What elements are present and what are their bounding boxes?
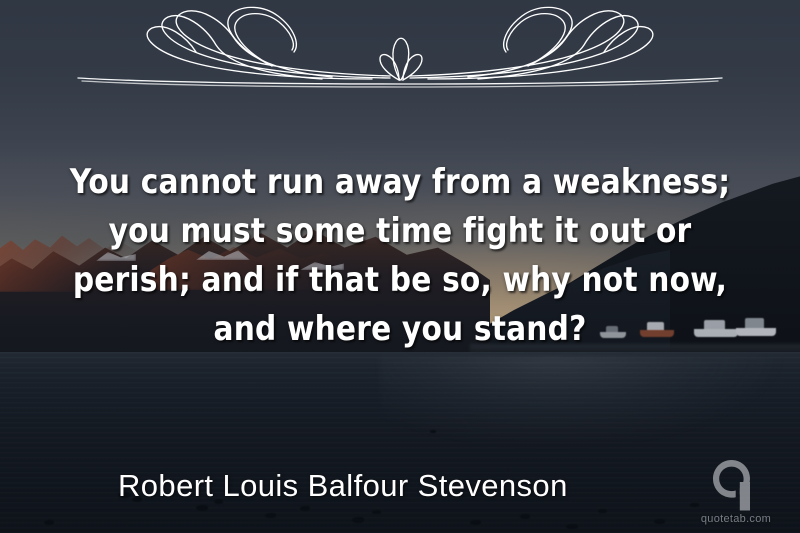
flourish-divider-icon — [72, 2, 728, 94]
quote-text: You cannot run away from a weakness; you… — [59, 158, 742, 354]
watermark-site-label[interactable]: quotetab.com — [701, 513, 771, 525]
quotetab-q-logo-icon[interactable] — [712, 458, 760, 512]
quote-content: You cannot run away from a weakness; you… — [0, 0, 800, 533]
watermark[interactable]: quotetab.com — [684, 458, 788, 525]
quote-card: You cannot run away from a weakness; you… — [0, 0, 800, 533]
quote-author: Robert Louis Balfour Stevenson — [118, 468, 568, 504]
